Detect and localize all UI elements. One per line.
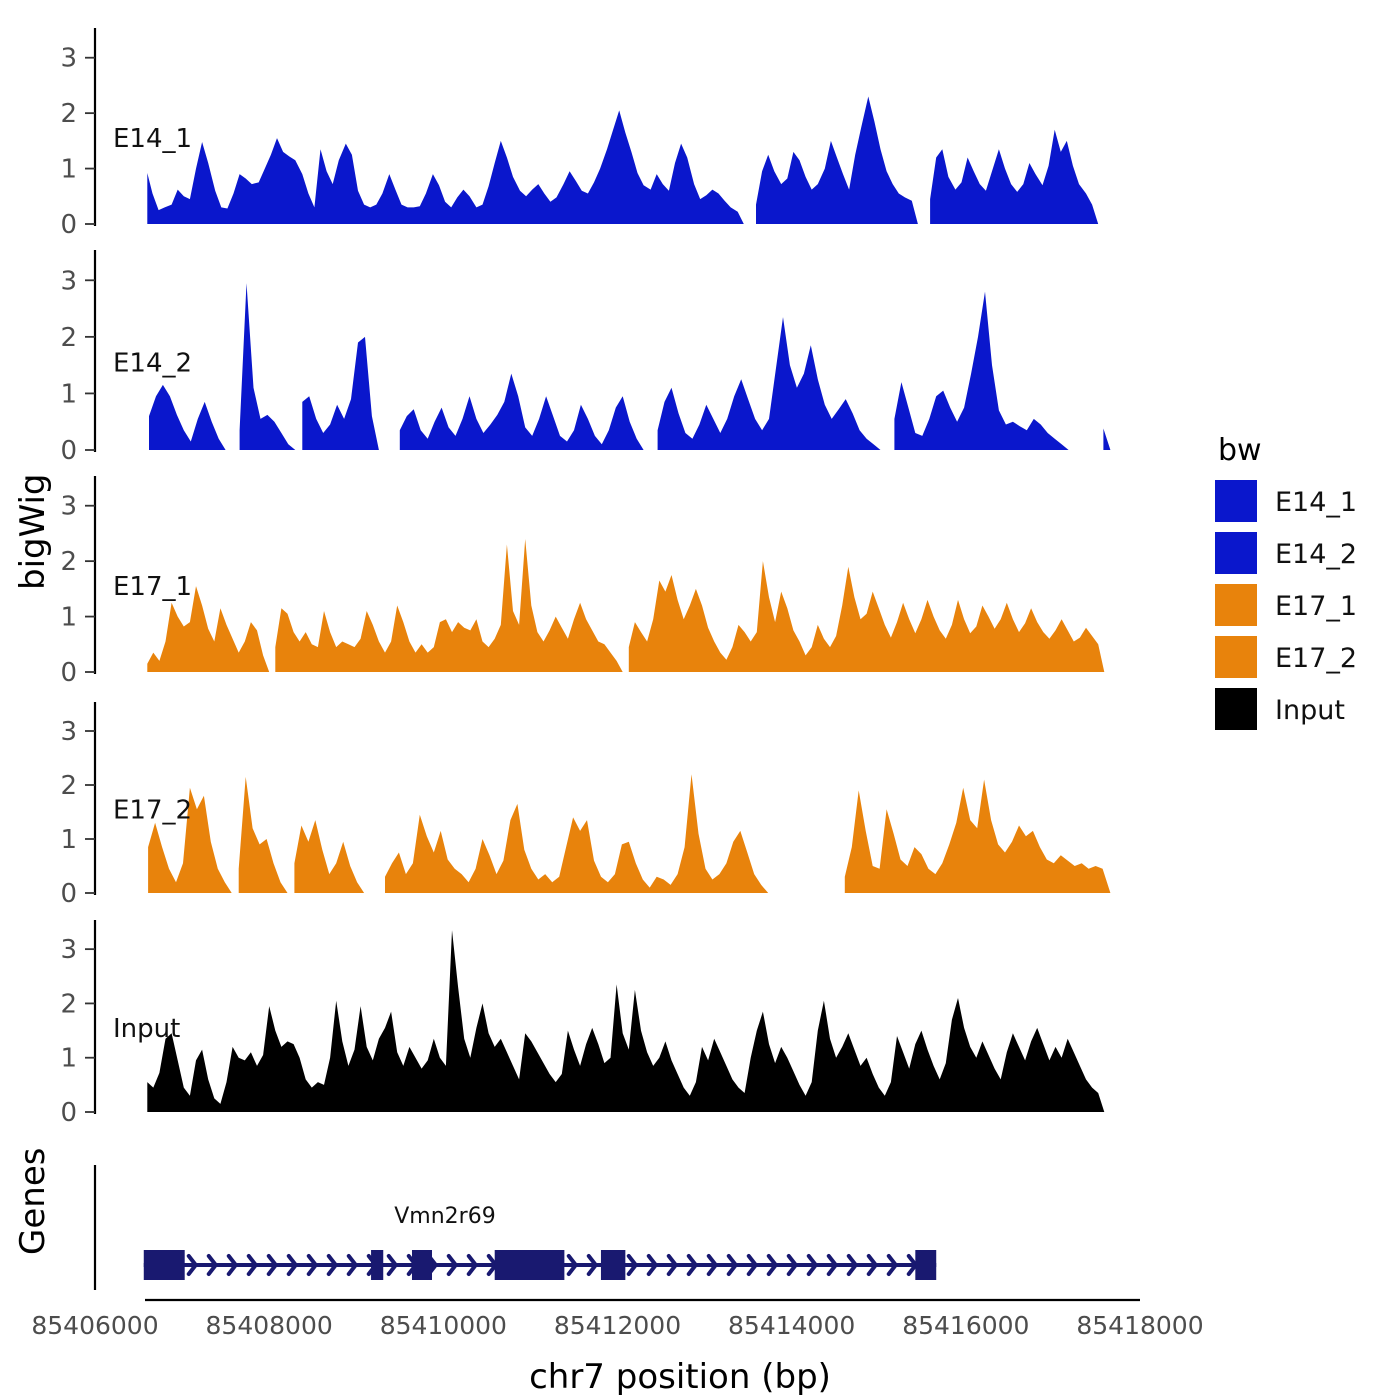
x-tick-label: 85408000 — [206, 1311, 333, 1340]
y-tick-label: 3 — [60, 717, 77, 747]
y-axis-title: bigWig — [13, 473, 53, 590]
gene-exon — [144, 1250, 185, 1280]
gene-label: Vmn2r69 — [394, 1204, 495, 1229]
y-tick-label: 0 — [60, 210, 77, 240]
y-tick-label: 2 — [60, 323, 77, 353]
x-axis-title: chr7 position (bp) — [529, 1357, 831, 1397]
y-tick-label: 3 — [60, 935, 77, 965]
y-tick-label: 1 — [60, 825, 77, 855]
x-tick-label: 85416000 — [902, 1311, 1029, 1340]
y-tick-label: 2 — [60, 547, 77, 577]
y-tick-label: 0 — [60, 436, 77, 466]
gene-exon — [371, 1250, 383, 1280]
y-tick-label: 3 — [60, 44, 77, 74]
gene-exon — [412, 1250, 432, 1280]
legend-swatch-e14_2 — [1215, 532, 1257, 574]
y-tick-label: 3 — [60, 266, 77, 296]
y-tick-label: 0 — [60, 1098, 77, 1128]
x-tick-label: 85414000 — [728, 1311, 855, 1340]
y-tick-label: 1 — [60, 155, 77, 185]
track-label-input: Input — [113, 1014, 180, 1044]
track-label-e14_2: E14_2 — [113, 348, 192, 378]
x-tick-label: 85412000 — [554, 1311, 681, 1340]
legend-label-e14_2: E14_2 — [1275, 539, 1357, 570]
x-tick-label: 85418000 — [1076, 1311, 1203, 1340]
legend-label-e17_1: E17_1 — [1275, 591, 1357, 622]
y-tick-label: 1 — [60, 603, 77, 633]
legend-label-e14_1: E14_1 — [1275, 487, 1357, 518]
y-tick-label: 2 — [60, 989, 77, 1019]
legend-label-e17_2: E17_2 — [1275, 643, 1357, 674]
y-tick-label: 2 — [60, 771, 77, 801]
gene-exon — [915, 1250, 936, 1280]
legend-swatch-e17_2 — [1215, 636, 1257, 678]
track-label-e17_2: E17_2 — [113, 795, 192, 825]
legend-title: bw — [1218, 433, 1262, 468]
legend-swatch-e17_1 — [1215, 584, 1257, 626]
genome-browser-figure: bigWig Genes 0123E14_10123E14_20123E17_1… — [0, 0, 1400, 1400]
legend-swatch-input — [1215, 688, 1257, 730]
gene-exon — [495, 1250, 565, 1280]
x-tick-label: 85410000 — [380, 1311, 507, 1340]
y-tick-label: 3 — [60, 492, 77, 522]
y-tick-label: 1 — [60, 379, 77, 409]
y-tick-label: 0 — [60, 879, 77, 909]
y-tick-label: 1 — [60, 1044, 77, 1074]
legend-label-input: Input — [1275, 695, 1345, 726]
y-tick-label: 2 — [60, 99, 77, 129]
gene-exon — [601, 1250, 625, 1280]
track-label-e14_1: E14_1 — [113, 124, 192, 154]
legend-swatch-e14_1 — [1215, 480, 1257, 522]
y-tick-label: 0 — [60, 658, 77, 688]
track-label-e17_1: E17_1 — [113, 572, 192, 602]
x-tick-label: 85406000 — [31, 1311, 158, 1340]
genes-strip-label: Genes — [13, 1148, 53, 1255]
